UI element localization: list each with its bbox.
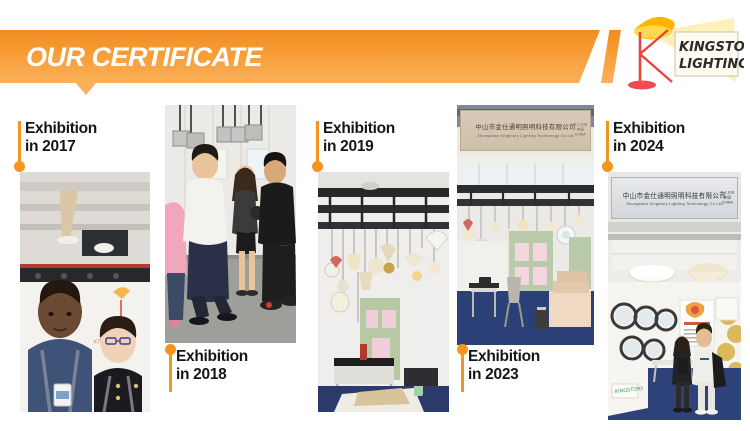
caption-exhibition-2024: Exhibition in 2024	[602, 120, 750, 156]
caption-rule	[606, 121, 609, 163]
photo-exhibition-2023: 中山市金仕通明照明科技有限公司 Zhongshan Kingstory Ligh…	[457, 105, 594, 345]
caption-dot-marker	[165, 344, 176, 355]
booth-country-en: CHINA	[720, 201, 734, 206]
caption-dot-marker	[602, 161, 613, 172]
exhibition-gallery: Exhibition in 2017	[0, 100, 750, 431]
caption-dot-marker	[14, 161, 25, 172]
caption-rule	[169, 350, 172, 392]
caption-line-1: Exhibition	[323, 120, 395, 137]
booth-sign-chinese: 中山市金仕通明照明科技有限公司	[623, 190, 726, 200]
lamp-logo-icon: KINGSTORY LIGHTING	[616, 8, 744, 94]
brand-logo: KINGSTORY LIGHTING	[616, 8, 744, 94]
caption-line-2: in 2017	[25, 138, 164, 156]
booth-sign-2023: 中山市金仕通明照明科技有限公司 Zhongshan Kingstory Ligh…	[460, 110, 592, 151]
photo-exhibition-2017: KINGSTORY	[20, 172, 150, 412]
page-title: OUR CERTIFICATE	[26, 42, 262, 72]
booth-sign-country: 11.1.E38 中国 CHINA	[573, 123, 587, 138]
booth-sign-chinese: 中山市金仕通明照明科技有限公司	[475, 122, 575, 131]
caption-line-2: in 2018	[176, 366, 315, 384]
caption-dot-marker	[457, 344, 468, 355]
photo-exhibition-2018	[165, 105, 296, 343]
caption-line-1: Exhibition	[613, 120, 685, 137]
logo-text-line1: KINGSTORY	[679, 40, 744, 55]
booth-country-en: CHINA	[573, 133, 587, 138]
caption-exhibition-2019: Exhibition in 2019	[312, 120, 462, 156]
page-header: OUR CERTIFICATE KINGSTORY LIGHTING	[0, 0, 750, 100]
photo-exhibition-2019	[318, 172, 449, 412]
booth-sign-country: 11.1.E38 中国 CHINA	[720, 191, 734, 206]
caption-line-1: Exhibition	[468, 348, 540, 365]
caption-exhibition-2023: Exhibition in 2023	[457, 348, 607, 384]
caption-exhibition-2017: Exhibition in 2017	[14, 120, 164, 156]
caption-dot-marker	[312, 161, 323, 172]
booth-sign-2024: 中山市金仕通明照明科技有限公司 Zhongshan Kingstory Ligh…	[611, 177, 739, 219]
caption-exhibition-2018: Exhibition in 2018	[165, 348, 315, 384]
title-banner: OUR CERTIFICATE	[0, 30, 620, 83]
gallery-column-2018: Exhibition in 2018	[165, 100, 302, 431]
booth-sign-english: Zhongshan Kingstory Lighting Technology …	[626, 201, 722, 206]
caption-rule	[461, 350, 464, 392]
banner-notch-decoration	[75, 82, 97, 95]
caption-rule	[18, 121, 21, 163]
booth-sign-english: Zhongshan Kingstory Lighting Technology …	[477, 133, 573, 138]
caption-line-2: in 2019	[323, 138, 462, 156]
gallery-column-2023: 中山市金仕通明照明科技有限公司 Zhongshan Kingstory Ligh…	[457, 100, 594, 431]
caption-rule	[316, 121, 319, 163]
caption-line-2: in 2023	[468, 366, 607, 384]
caption-line-2: in 2024	[613, 138, 750, 156]
logo-text-line2: LIGHTING	[679, 57, 744, 72]
photo-exhibition-2024: KINGSTORY	[608, 172, 741, 420]
gallery-column-2017: Exhibition in 2017	[14, 100, 150, 431]
caption-line-1: Exhibition	[176, 348, 248, 365]
gallery-column-2024: Exhibition in 2024	[602, 100, 739, 431]
caption-line-1: Exhibition	[25, 120, 97, 137]
gallery-column-2019: Exhibition in 2019	[312, 100, 449, 431]
